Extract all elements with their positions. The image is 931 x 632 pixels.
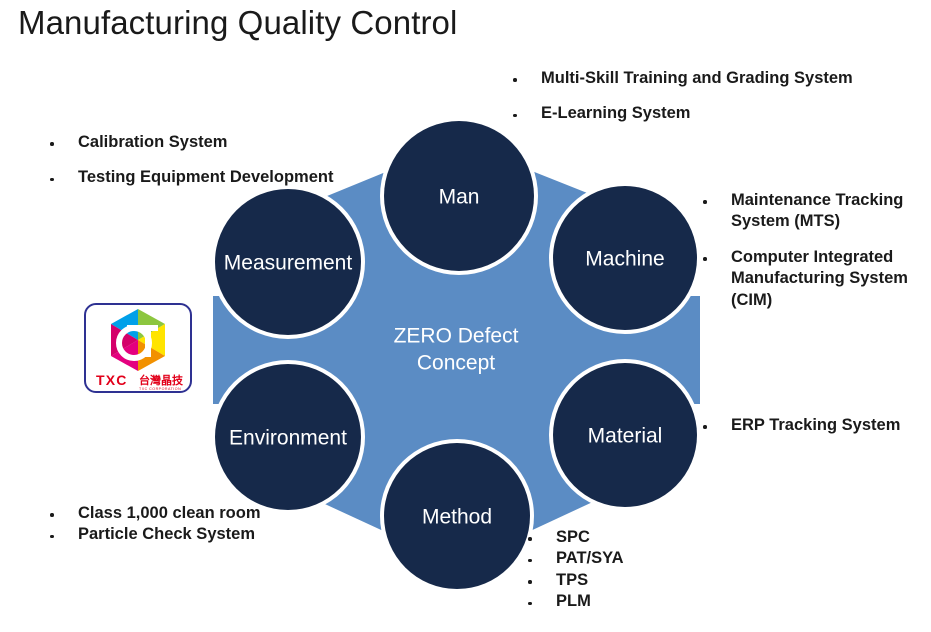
slide-canvas: Manufacturing Quality Control (0, 0, 931, 632)
bullet-item: Class 1,000 clean room (42, 503, 362, 524)
bullet-item: Multi-Skill Training and Grading System (505, 68, 865, 89)
txc-logo: TXC 台灣晶技 TXC CORPORATION (84, 303, 192, 393)
txc-wordmark: TXC (96, 372, 128, 388)
hub-label-line2: Concept (341, 350, 571, 377)
bullets-machine: Maintenance Tracking System (MTS) Comput… (695, 190, 910, 311)
bullet-item: E-Learning System (505, 103, 865, 124)
bullet-item: Maintenance Tracking System (MTS) (695, 190, 910, 233)
bullet-item: Calibration System (42, 132, 352, 153)
bullet-item: Testing Equipment Development (42, 167, 352, 188)
bullets-environment: Class 1,000 clean room Particle Check Sy… (42, 503, 362, 546)
node-circle-machine (553, 186, 697, 330)
bullets-man: Multi-Skill Training and Grading System … (505, 68, 865, 125)
node-circle-material (553, 363, 697, 507)
txc-chinese-name: 台灣晶技 (139, 373, 184, 387)
node-circle-environment (215, 364, 361, 510)
node-circle-measurement (215, 189, 361, 335)
bullet-item: PLM (520, 591, 750, 612)
txc-logo-mark: TXC 台灣晶技 TXC CORPORATION (86, 305, 190, 391)
bullet-item: ERP Tracking System (695, 415, 925, 436)
bullet-item: TPS (520, 570, 750, 591)
hub-label: ZERO Defect Concept (341, 323, 571, 378)
bullet-item: Particle Check System (42, 524, 362, 545)
node-circle-method (384, 443, 530, 589)
bullet-item: SPC (520, 527, 750, 548)
bullets-method: SPC PAT/SYA TPS PLM (520, 527, 750, 613)
bullets-material: ERP Tracking System (695, 415, 925, 436)
node-circle-man (384, 121, 534, 271)
hub-label-line1: ZERO Defect (341, 323, 571, 350)
txc-subtitle: TXC CORPORATION (139, 387, 181, 391)
bullet-item: Computer Integrated Manufacturing System… (695, 247, 910, 311)
bullets-measurement: Calibration System Testing Equipment Dev… (42, 132, 352, 189)
bullet-item: PAT/SYA (520, 548, 750, 569)
